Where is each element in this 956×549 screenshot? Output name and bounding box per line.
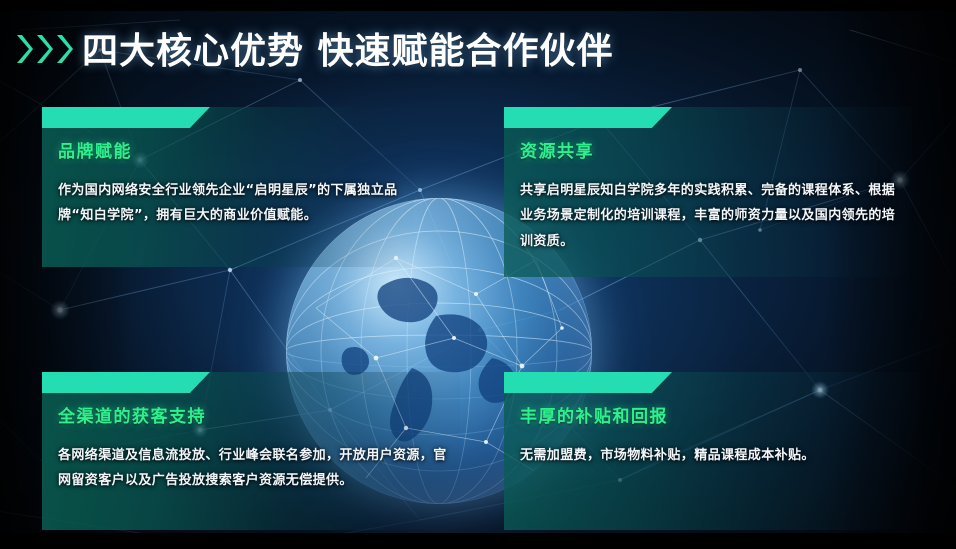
panel-brand: 品牌赋能 作为国内网络安全行业领先企业“启明星辰”的下属独立品牌“知白学院”，拥… — [42, 107, 414, 267]
panel-resource: 资源共享 共享启明星辰知白学院多年的实践积累、完备的课程体系、根据业务场景定制化… — [504, 107, 912, 277]
panel-body: 无需加盟费，市场物料补贴，精品课程成本补贴。 — [520, 443, 912, 468]
panel-subsidy: 丰厚的补贴和回报 无需加盟费，市场物料补贴，精品课程成本补贴。 — [504, 372, 922, 530]
panel-content: 资源共享 共享启明星辰知白学院多年的实践积累、完备的课程体系、根据业务场景定制化… — [520, 137, 902, 254]
slide-root: 四大核心优势 快速赋能合作伙伴 品牌赋能 作为国内网络安全行业领先企业“启明星辰… — [0, 0, 956, 549]
slide-header: 四大核心优势 快速赋能合作伙伴 — [0, 24, 956, 78]
panel-content: 品牌赋能 作为国内网络安全行业领先企业“启明星辰”的下属独立品牌“知白学院”，拥… — [58, 137, 404, 229]
chevron-right-icon-3 — [56, 33, 73, 65]
panel-tab-parallelogram — [504, 107, 672, 128]
letterbox-top — [0, 0, 956, 11]
panel-body: 作为国内网络安全行业领先企业“启明星辰”的下属独立品牌“知白学院”，拥有巨大的商… — [58, 178, 404, 229]
panel-tab-parallelogram — [42, 372, 210, 393]
letterbox-bottom — [0, 533, 956, 549]
panel-title: 全渠道的获客支持 — [58, 402, 450, 427]
chevron-right-icon-1 — [16, 33, 33, 65]
panel-title: 品牌赋能 — [58, 137, 404, 162]
panel-title: 丰厚的补贴和回报 — [520, 402, 912, 427]
panel-channel: 全渠道的获客支持 各网络渠道及信息流投放、行业峰会联名参加，开放用户资源，官网留… — [42, 372, 460, 530]
panel-content: 全渠道的获客支持 各网络渠道及信息流投放、行业峰会联名参加，开放用户资源，官网留… — [58, 402, 450, 494]
panel-tab-parallelogram — [42, 107, 210, 128]
panel-body: 各网络渠道及信息流投放、行业峰会联名参加，开放用户资源，官网留资客户以及广告投放… — [58, 443, 450, 494]
panel-tab-parallelogram — [504, 372, 672, 393]
panel-content: 丰厚的补贴和回报 无需加盟费，市场物料补贴，精品课程成本补贴。 — [520, 402, 912, 468]
panel-body: 共享启明星辰知白学院多年的实践积累、完备的课程体系、根据业务场景定制化的培训课程… — [520, 178, 902, 254]
chevron-right-icon-2 — [36, 33, 53, 65]
page-title: 四大核心优势 快速赋能合作伙伴 — [82, 22, 614, 74]
double-chevron-right-icon — [16, 33, 73, 65]
panel-title: 资源共享 — [520, 137, 902, 162]
